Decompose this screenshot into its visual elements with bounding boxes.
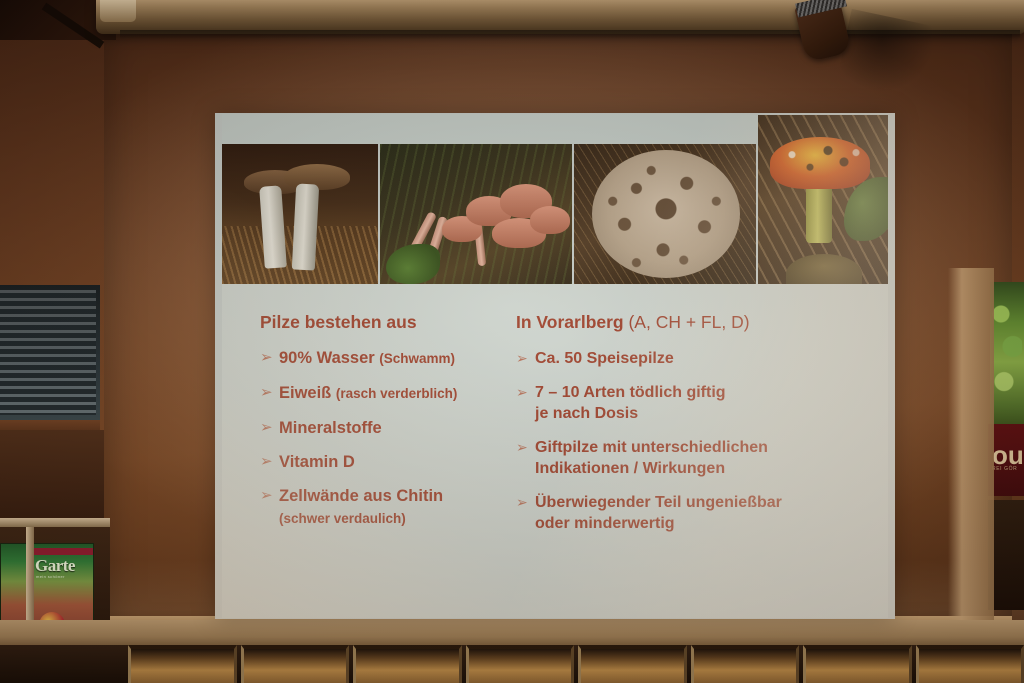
cabinet-panel xyxy=(128,645,237,683)
slide-left-column: Pilze bestehen aus ➢ 90% Wasser (Schwamm… xyxy=(222,312,508,618)
photo2-cap xyxy=(530,206,570,234)
list-item: ➢ 90% Wasser (Schwamm) xyxy=(260,348,508,369)
bullet-line-1: Ca. 50 Speisepilze xyxy=(535,348,674,369)
list-item: ➢ Eiweiß (rasch verderblich) xyxy=(260,383,508,404)
presentation-slide: Pilze bestehen aus ➢ 90% Wasser (Schwamm… xyxy=(215,113,895,619)
arrow-bullet-icon: ➢ xyxy=(260,452,279,472)
bullet-qualifier: (rasch verderblich) xyxy=(336,386,458,401)
cabinet-panel xyxy=(466,645,575,683)
photo-mushroom-cluster xyxy=(380,144,572,284)
arrow-bullet-icon: ➢ xyxy=(516,492,535,512)
magazine-banner xyxy=(33,548,93,555)
window-foliage xyxy=(992,288,1022,418)
cabinet-panel xyxy=(916,645,1024,683)
list-item: ➢ 7 – 10 Arten tödlich giftig je nach Do… xyxy=(516,382,888,424)
cabinet-panel xyxy=(691,645,800,683)
slide-photo-strip xyxy=(222,144,888,284)
bullet-text: Vitamin D xyxy=(279,452,355,472)
shelf-rail-upper xyxy=(0,518,110,527)
bullet-text: 90% Wasser (Schwamm) xyxy=(279,348,455,369)
arrow-bullet-icon: ➢ xyxy=(516,382,535,402)
bullet-text: Überwiegender Teil ungenießbar oder mind… xyxy=(535,492,782,534)
bullet-main: Eiweiß xyxy=(279,384,336,402)
cabinet-top-surface xyxy=(0,620,1024,648)
right-heading-bold: In Vorarlberg xyxy=(516,312,628,332)
list-item: ➢ Zellwände aus Chitin xyxy=(260,486,508,506)
bullet-text: Ca. 50 Speisepilze xyxy=(535,348,674,369)
bullet-text: 7 – 10 Arten tödlich giftig je nach Dosi… xyxy=(535,382,726,424)
photo1-stem-right xyxy=(292,183,319,270)
arrow-bullet-icon: ➢ xyxy=(260,383,279,403)
screenshot-root: mein schöner Garte ou REI GÖR xyxy=(0,0,1024,683)
photo-fly-agaric xyxy=(758,115,888,290)
bullet-qualifier: (Schwamm) xyxy=(379,351,455,366)
list-item: ➢ Mineralstoffe xyxy=(260,418,508,438)
bullet-line-1: Giftpilze mit unterschiedlichen xyxy=(535,437,768,458)
cabinet-row xyxy=(0,645,1024,683)
photo4-stem xyxy=(806,181,832,243)
list-item: ➢ Giftpilze mit unterschiedlichen Indika… xyxy=(516,437,888,479)
bullet-line-2: Indikationen / Wirkungen xyxy=(535,458,768,479)
photo4-cap-warts xyxy=(770,137,870,189)
arrow-bullet-icon: ➢ xyxy=(516,437,535,457)
cabinet-panel xyxy=(241,645,350,683)
magazine-title: Garte xyxy=(35,556,75,576)
right-column-heading: In Vorarlberg (A, CH + FL, D) xyxy=(516,312,888,332)
bullet-line-2: je nach Dosis xyxy=(535,403,726,424)
arrow-bullet-icon: ➢ xyxy=(260,486,279,506)
photo-boletus-pair xyxy=(222,144,378,284)
bullet-main: 90% Wasser xyxy=(279,349,379,367)
photo-parasol-cap xyxy=(574,144,756,284)
bullet-line-1: 7 – 10 Arten tödlich giftig xyxy=(535,382,726,403)
cabinet-panel xyxy=(803,645,912,683)
bullet-line-1: Überwiegender Teil ungenießbar xyxy=(535,492,782,513)
arrow-bullet-icon: ➢ xyxy=(260,418,279,438)
bookshelf-upper xyxy=(0,430,104,520)
window-blinds xyxy=(0,290,96,415)
slide-content-body: Pilze bestehen aus ➢ 90% Wasser (Schwamm… xyxy=(222,284,888,618)
cabinet-panel xyxy=(353,645,462,683)
left-column-heading: Pilze bestehen aus xyxy=(260,312,508,332)
bullet-text: Zellwände aus Chitin xyxy=(279,486,443,506)
bullet-line-2: oder minderwertig xyxy=(535,513,782,534)
arrow-bullet-icon: ➢ xyxy=(260,348,279,368)
slide-title-placeholder xyxy=(222,114,760,144)
slide-right-column: In Vorarlberg (A, CH + FL, D) ➢ Ca. 50 S… xyxy=(508,312,888,618)
list-item: ➢ Ca. 50 Speisepilze xyxy=(516,348,888,369)
list-item: ➢ Vitamin D xyxy=(260,452,508,472)
arrow-bullet-icon: ➢ xyxy=(516,348,535,368)
cabinet-panel xyxy=(578,645,687,683)
bullet-text: Giftpilze mit unterschiedlichen Indikati… xyxy=(535,437,768,479)
list-item: ➢ Überwiegender Teil ungenießbar oder mi… xyxy=(516,492,888,534)
bullet-text: Mineralstoffe xyxy=(279,418,382,438)
photo3-parasol-cap xyxy=(592,150,740,278)
bullet-text: Eiweiß (rasch verderblich) xyxy=(279,383,457,404)
exterior-sign-subtext: REI GÖR xyxy=(992,466,1017,472)
right-heading-light: (A, CH + FL, D) xyxy=(628,312,749,332)
bullet-subnote: (schwer verdaulich) xyxy=(279,510,508,527)
screen-roller-endcap xyxy=(100,0,136,22)
